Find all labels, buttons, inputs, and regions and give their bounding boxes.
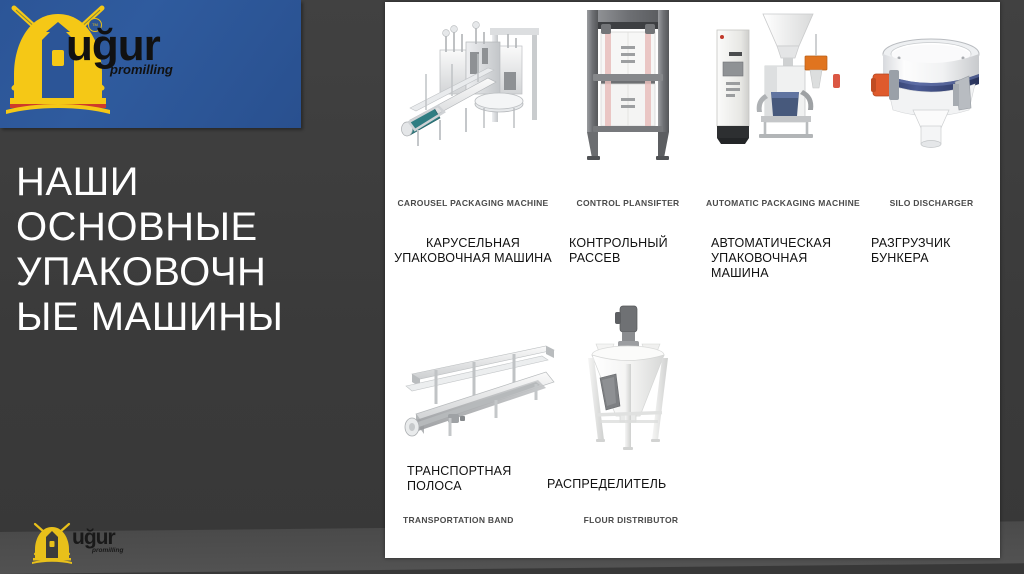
brand-wordmark: uğur promilling [66, 26, 173, 77]
footer-brand-logo: uğur promilling [26, 520, 150, 566]
brand-tagline: promilling [110, 62, 173, 77]
product-card-transportation-band[interactable]: ТРАНСПОРТНАЯ ПОЛОСА TRANSPORTATION BAND [393, 302, 563, 542]
products-panel: CAROUSEL PACKAGING MACHINE КАРУСЕЛЬНАЯ У… [385, 2, 1000, 558]
product-card-silo-discharger[interactable]: SILO DISCHARGER РАЗГРУЗЧИК БУНКЕРА [863, 6, 1000, 296]
product-card-flour-distributor[interactable]: РАСПРЕДЕЛИТЕЛЬ FLOUR DISTRIBUTOR [545, 302, 715, 542]
product-title-ru: КАРУСЕЛЬНАЯ УПАКОВОЧНАЯ МАШИНА [393, 236, 553, 266]
footer-brand-name: uğur [72, 528, 123, 547]
slide-background: TM uğur promilling НАШИ ОСНОВНЫЕ УПАКОВО… [0, 0, 1024, 574]
product-title-en: FLOUR DISTRIBUTOR [551, 515, 711, 526]
brand-logo-header: TM uğur promilling [0, 0, 301, 128]
page-title: НАШИ ОСНОВНЫЕ УПАКОВОЧН ЫЕ МАШИНЫ [16, 160, 376, 340]
footer-brand-wordmark: uğur promilling [72, 528, 123, 554]
windmill-icon-small [32, 522, 72, 564]
footer-brand-tagline: promilling [92, 547, 123, 554]
product-title-en: CONTROL PLANSIFTER [553, 198, 703, 209]
page-title-line-2: ОСНОВНЫЕ [16, 205, 376, 250]
product-card-carousel-packaging-machine[interactable]: CAROUSEL PACKAGING MACHINE КАРУСЕЛЬНАЯ У… [393, 6, 553, 296]
product-card-automatic-packaging-machine[interactable]: AUTOMATIC PACKAGING MACHINE АВТОМАТИЧЕСК… [703, 6, 863, 296]
product-title-en: SILO DISCHARGER [863, 198, 1000, 209]
silo-discharger-photo [863, 20, 1000, 166]
flour-distributor-photo [545, 302, 715, 452]
product-title-en: TRANSPORTATION BAND [403, 515, 559, 526]
brand-name: uğur [66, 26, 173, 66]
page-title-line-1: НАШИ [16, 160, 376, 205]
product-title-en: AUTOMATIC PACKAGING MACHINE [703, 198, 863, 209]
product-card-control-plansifter[interactable]: CONTROL PLANSIFTER КОНТРОЛЬНЫЙ РАССЕВ [553, 6, 703, 296]
page-title-line-4: ЫЕ МАШИНЫ [16, 295, 376, 340]
product-title-ru: РАСПРЕДЕЛИТЕЛЬ [547, 477, 713, 492]
product-title-ru: АВТОМАТИЧЕСКАЯ УПАКОВОЧНАЯ МАШИНА [711, 236, 861, 281]
product-title-ru: РАЗГРУЗЧИК БУНКЕРА [871, 236, 998, 266]
control-plansifter-photo [553, 6, 703, 166]
transportation-band-photo [393, 330, 563, 450]
product-title-ru: ТРАНСПОРТНАЯ ПОЛОСА [407, 464, 559, 494]
product-title-en: CAROUSEL PACKAGING MACHINE [393, 198, 553, 209]
product-title-ru: КОНТРОЛЬНЫЙ РАССЕВ [569, 236, 699, 266]
automatic-packaging-machine-photo [703, 6, 863, 166]
page-title-line-3: УПАКОВОЧН [16, 250, 376, 295]
carousel-packaging-machine-photo [393, 12, 553, 162]
